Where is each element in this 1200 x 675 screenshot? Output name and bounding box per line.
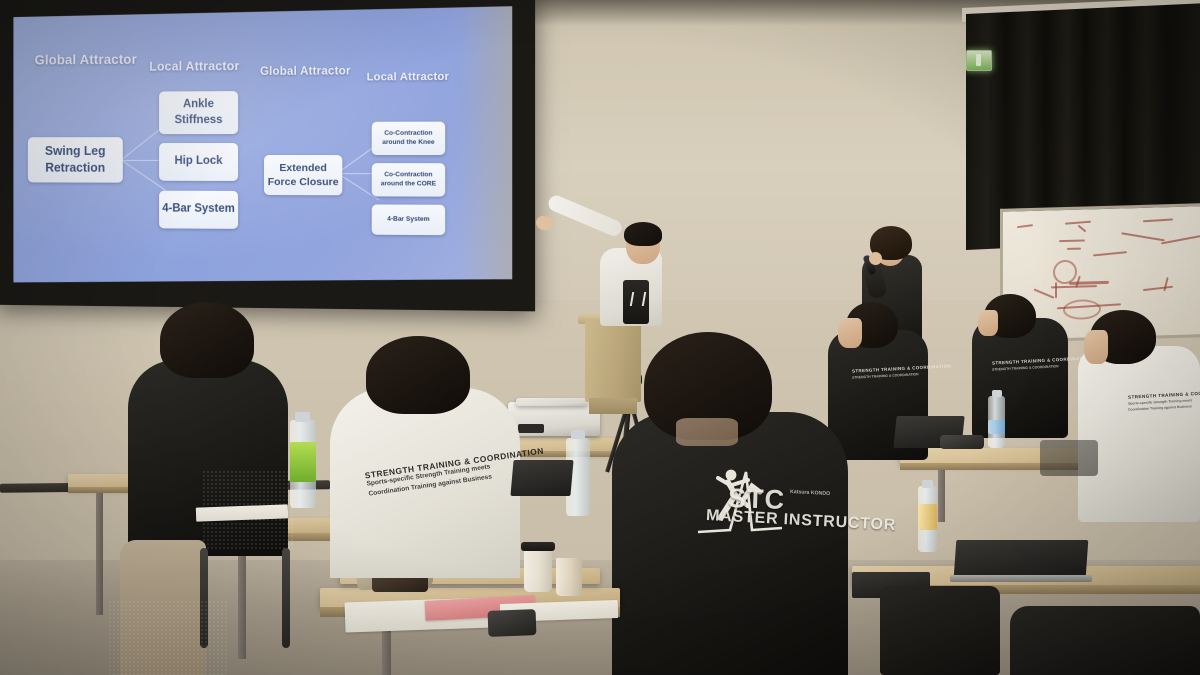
presenter-microphone-hand bbox=[869, 252, 882, 265]
node-line: Co-Contraction bbox=[384, 129, 432, 136]
presenter-pointing-jacket-panel bbox=[623, 280, 649, 324]
slide-node-extended-force-closure: Extended Force Closure bbox=[264, 155, 342, 195]
node-line: 4-Bar System bbox=[162, 202, 235, 218]
chair-leg bbox=[282, 548, 290, 648]
bottle-label-green-tea bbox=[290, 442, 316, 482]
slide-connector bbox=[338, 145, 376, 173]
slide-node-co-contraction-knee: Co-Contraction around the Knee bbox=[372, 122, 445, 155]
node-line: Co-Contraction bbox=[384, 171, 432, 178]
bottle-cap bbox=[992, 390, 1002, 397]
node-line: Stiffness bbox=[174, 114, 222, 126]
node-line: 4-Bar System bbox=[387, 215, 429, 224]
bottle-cap bbox=[922, 480, 933, 488]
device-on-desk bbox=[940, 435, 984, 449]
coffee-cup bbox=[524, 548, 552, 592]
node-line: around the Knee bbox=[382, 138, 434, 145]
coffee-cup bbox=[556, 558, 582, 596]
projector-top-panel bbox=[516, 398, 588, 406]
projected-slide: Global Attractor Local Attractor Global … bbox=[13, 6, 512, 287]
slide-connector bbox=[338, 173, 379, 200]
node-line: Extended bbox=[279, 162, 326, 174]
node-line: Hip Lock bbox=[175, 154, 223, 170]
slide-node-4-bar-system-right: 4-Bar System bbox=[372, 204, 445, 235]
slide-column-label-3: Global Attractor bbox=[260, 65, 351, 78]
slide-node-co-contraction-core: Co-Contraction around the CORE bbox=[372, 163, 445, 197]
desk-leg bbox=[938, 470, 945, 522]
desk-leg bbox=[238, 541, 246, 659]
bottle-cap bbox=[295, 412, 310, 422]
slide-connector bbox=[122, 127, 163, 160]
attendee-left-back-head bbox=[160, 302, 254, 378]
projection-screen-frame: Global Attractor Local Attractor Global … bbox=[0, 0, 535, 311]
attendee-right-3-body bbox=[1078, 346, 1200, 522]
coffee-cup-lid bbox=[521, 542, 555, 551]
emergency-exit-sign bbox=[966, 50, 992, 71]
laptop-base bbox=[950, 575, 1092, 582]
slide-node-4-bar-system-left: 4-Bar System bbox=[159, 191, 238, 229]
smartphone bbox=[488, 609, 537, 637]
slide-connector bbox=[122, 160, 171, 161]
attendee-center-front-neck bbox=[676, 418, 738, 446]
node-line: Retraction bbox=[45, 161, 105, 175]
slide-connector bbox=[122, 160, 166, 191]
podium bbox=[585, 320, 641, 402]
slide-column-label-2: Local Attractor bbox=[149, 59, 239, 74]
node-line: Ankle bbox=[183, 98, 214, 110]
laptop bbox=[510, 460, 573, 496]
projector-lens bbox=[518, 424, 544, 433]
desk-leg bbox=[96, 493, 103, 615]
attendee-right-3-face bbox=[1084, 330, 1108, 364]
attendee-right-2-face bbox=[978, 310, 998, 336]
slide-node-ankle-stiffness: Ankle Stiffness bbox=[159, 91, 238, 134]
node-line: Swing Leg bbox=[45, 144, 106, 158]
slide-node-hip-lock: Hip Lock bbox=[159, 143, 238, 181]
podium-base bbox=[589, 398, 637, 414]
chair bbox=[108, 600, 228, 675]
presenter-pointing-hair bbox=[624, 222, 662, 246]
attendee-left-white-head bbox=[366, 336, 470, 414]
attendee-right-1-face bbox=[838, 318, 862, 348]
backpack bbox=[1010, 606, 1200, 675]
node-line: around the CORE bbox=[381, 180, 436, 187]
slide-connector bbox=[338, 173, 383, 174]
bottle-cap bbox=[571, 430, 585, 439]
bottle-label bbox=[988, 420, 1005, 434]
slide-column-label-1: Global Attractor bbox=[35, 52, 137, 68]
node-line: Force Closure bbox=[268, 176, 339, 188]
backpack bbox=[880, 586, 1000, 675]
slide-node-swing-leg-retraction: Swing Leg Retraction bbox=[28, 137, 123, 183]
bottle-label bbox=[918, 504, 937, 530]
screen-glare bbox=[459, 6, 513, 287]
laptop bbox=[954, 540, 1089, 578]
slide-column-label-4: Local Attractor bbox=[367, 71, 449, 84]
chair bbox=[1040, 440, 1098, 476]
lecture-room-photo: Global Attractor Local Attractor Global … bbox=[0, 0, 1200, 675]
